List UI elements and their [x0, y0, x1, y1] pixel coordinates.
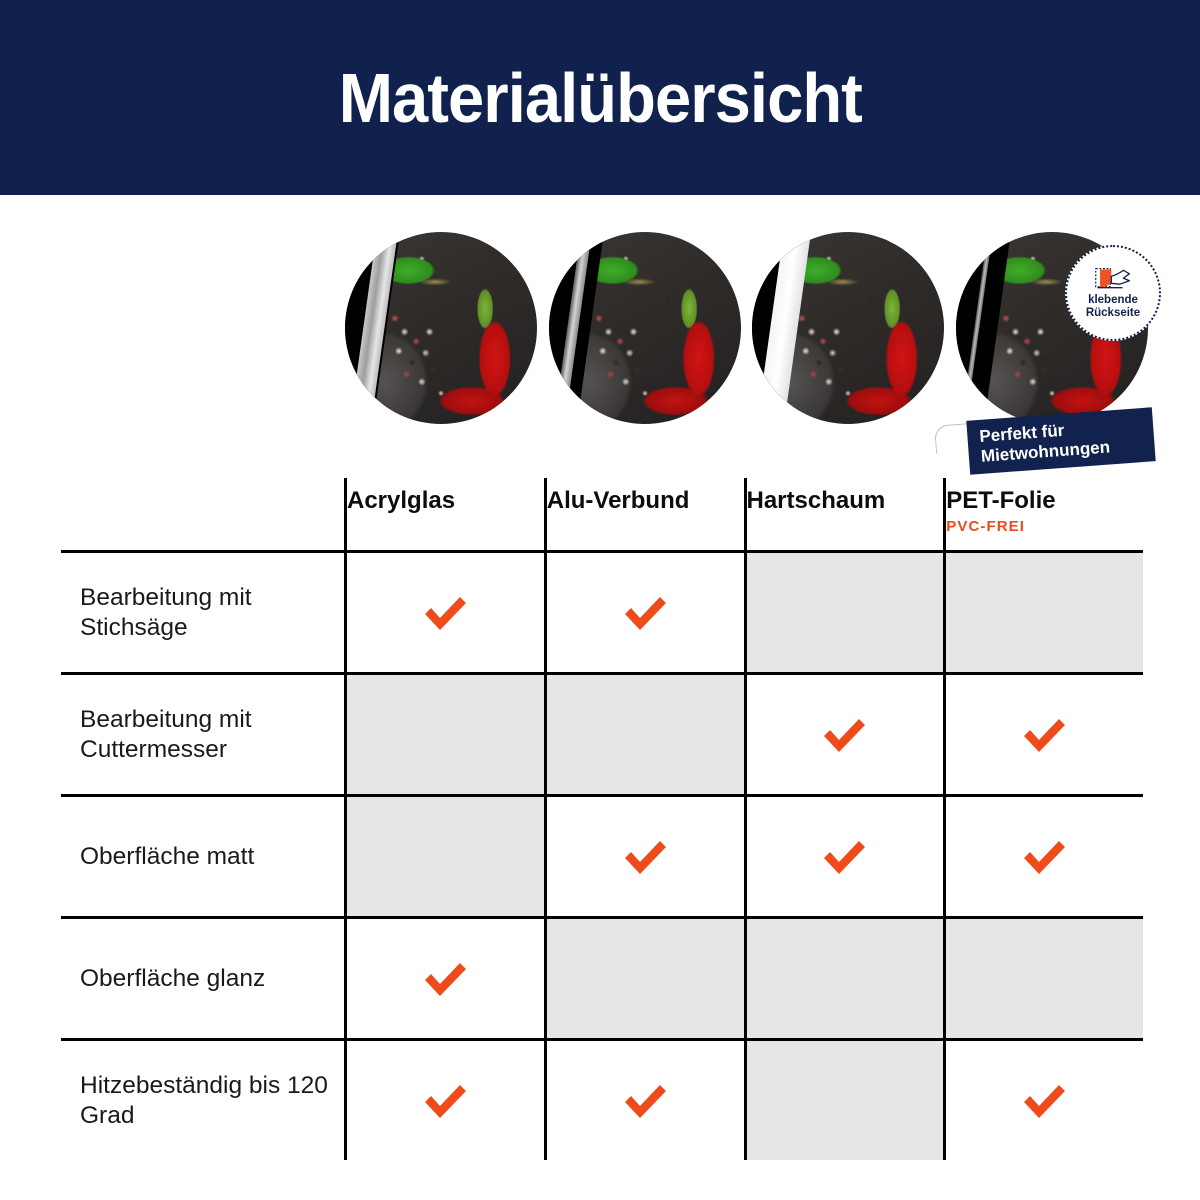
check-icon	[820, 837, 869, 877]
cell-pet-folie-bearbeitung-mit-cuttermesser	[943, 672, 1143, 794]
cell-hartschaum-bearbeitung-mit-cuttermesser	[744, 672, 944, 794]
table-row: Hitzebeständig bis 120 Grad	[61, 1038, 1143, 1160]
cell-hartschaum-oberflaeche-glanz	[744, 916, 944, 1038]
badge-line-1: klebende	[1086, 294, 1140, 307]
badge-text: klebende Rückseite	[1086, 294, 1140, 320]
cell-alu-verbund-hitzebestaendig-bis-120-grad	[544, 1038, 744, 1160]
check-icon	[1020, 837, 1069, 877]
check-icon	[1020, 715, 1069, 755]
check-icon	[421, 959, 470, 999]
row-label-bearbeitung-mit-stichsaege: Bearbeitung mit Stichsäge	[61, 550, 344, 672]
cell-pet-folie-bearbeitung-mit-stichsaege	[943, 550, 1143, 672]
row-label-hitzebestaendig-bis-120-grad: Hitzebeständig bis 120 Grad	[61, 1038, 344, 1160]
check-icon	[621, 593, 670, 633]
check-icon	[621, 837, 670, 877]
badge-line-2: Rückseite	[1086, 307, 1140, 320]
check-icon	[421, 1081, 470, 1121]
row-label-text: Oberfläche matt	[80, 842, 254, 872]
cell-pet-folie-oberflaeche-glanz	[943, 916, 1143, 1038]
row-label-text: Bearbeitung mit Stichsäge	[80, 583, 336, 643]
thumbnail-row	[0, 232, 1200, 432]
cell-acrylglas-bearbeitung-mit-cuttermesser	[344, 672, 544, 794]
cell-acrylglas-hitzebestaendig-bis-120-grad	[344, 1038, 544, 1160]
check-icon	[1020, 1081, 1069, 1121]
page-title: Materialübersicht	[338, 63, 861, 133]
cell-alu-verbund-bearbeitung-mit-cuttermesser	[544, 672, 744, 794]
thumb-alu-verbund[interactable]	[549, 232, 741, 424]
check-icon	[421, 593, 470, 633]
check-icon	[820, 715, 869, 755]
row-label-oberflaeche-matt: Oberfläche matt	[61, 794, 344, 916]
row-label-text: Oberfläche glanz	[80, 964, 265, 994]
page-header: Materialübersicht	[0, 0, 1200, 195]
table-header-row: Acrylglas Alu-Verbund Hartschaum PET-Fol…	[61, 478, 1143, 550]
column-label: Acrylglas	[347, 488, 455, 514]
cell-pet-folie-oberflaeche-matt	[943, 794, 1143, 916]
check-icon	[621, 1081, 670, 1121]
table-row: Bearbeitung mit Stichsäge	[61, 550, 1143, 672]
thumb-hartschaum[interactable]	[752, 232, 944, 424]
thumb-acrylglas[interactable]	[345, 232, 537, 424]
cell-alu-verbund-oberflaeche-glanz	[544, 916, 744, 1038]
column-header-hartschaum: Hartschaum	[744, 478, 944, 550]
cell-acrylglas-oberflaeche-matt	[344, 794, 544, 916]
cell-alu-verbund-oberflaeche-matt	[544, 794, 744, 916]
cell-hartschaum-hitzebestaendig-bis-120-grad	[744, 1038, 944, 1160]
cell-hartschaum-oberflaeche-matt	[744, 794, 944, 916]
table-row: Bearbeitung mit Cuttermesser	[61, 672, 1143, 794]
material-comparison-table: Acrylglas Alu-Verbund Hartschaum PET-Fol…	[61, 478, 1143, 1160]
cell-acrylglas-oberflaeche-glanz	[344, 916, 544, 1038]
peel-adhesive-backing-icon	[1094, 266, 1132, 292]
column-label: PET-Folie	[946, 488, 1055, 514]
cell-hartschaum-bearbeitung-mit-stichsaege	[744, 550, 944, 672]
column-header-alu-verbund: Alu-Verbund	[544, 478, 744, 550]
table-row: Oberfläche glanz	[61, 916, 1143, 1038]
table-corner-cell	[61, 478, 344, 550]
row-label-bearbeitung-mit-cuttermesser: Bearbeitung mit Cuttermesser	[61, 672, 344, 794]
cell-alu-verbund-bearbeitung-mit-stichsaege	[544, 550, 744, 672]
row-label-oberflaeche-glanz: Oberfläche glanz	[61, 916, 344, 1038]
row-label-text: Hitzebeständig bis 120 Grad	[80, 1071, 336, 1131]
column-label: Hartschaum	[747, 488, 886, 514]
table-row: Oberfläche matt	[61, 794, 1143, 916]
klebende-rueckseite-badge: klebende Rückseite	[1065, 245, 1161, 341]
cell-pet-folie-hitzebestaendig-bis-120-grad	[943, 1038, 1143, 1160]
column-label: Alu-Verbund	[547, 488, 690, 514]
cell-acrylglas-bearbeitung-mit-stichsaege	[344, 550, 544, 672]
table-body: Bearbeitung mit StichsägeBearbeitung mit…	[61, 550, 1143, 1160]
column-sublabel-pvc-frei: PVC-FREI	[946, 518, 1025, 535]
column-header-acrylglas: Acrylglas	[344, 478, 544, 550]
row-label-text: Bearbeitung mit Cuttermesser	[80, 705, 336, 765]
column-header-pet-folie: PET-Folie PVC-FREI	[943, 478, 1143, 550]
